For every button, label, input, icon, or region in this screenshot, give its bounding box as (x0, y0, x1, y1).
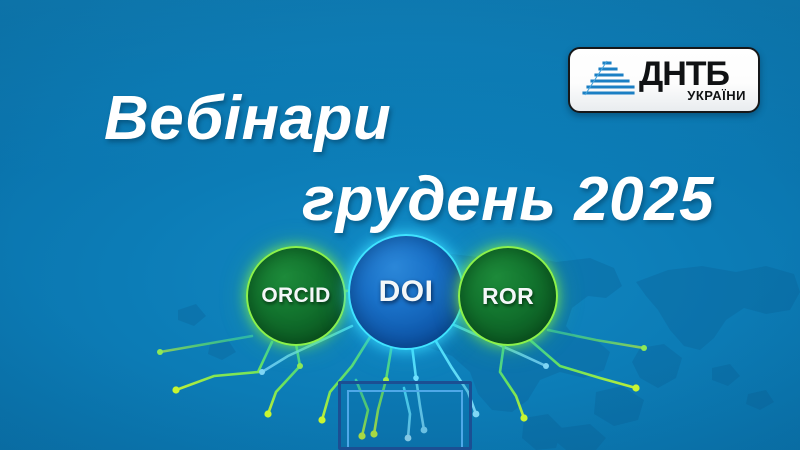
node-ror-label: ROR (482, 283, 534, 310)
node-orcid: ORCID (246, 246, 346, 346)
monitor-screen-outline (338, 381, 472, 450)
node-ror: ROR (458, 246, 558, 346)
logo-main-text: ДНТБ (639, 57, 729, 91)
page-title-line-2: грудень 2025 (302, 164, 714, 235)
node-orcid-label: ORCID (261, 284, 330, 308)
page-title-line-1: Вебінари (104, 83, 391, 154)
monitor-screen-inner-border (347, 390, 463, 447)
node-doi-label: DOI (379, 275, 434, 309)
logo-sub-text: УКРАЇНИ (687, 89, 746, 102)
dntb-ukraine-logo[interactable]: ДНТБ УКРАЇНИ (568, 47, 760, 113)
node-doi: DOI (348, 234, 464, 350)
webinar-banner: ORCID DOI ROR Вебінари грудень 2025 (0, 0, 800, 450)
pyramid-lines-icon (579, 58, 637, 102)
logo-text-block: ДНТБ УКРАЇНИ (639, 49, 758, 111)
